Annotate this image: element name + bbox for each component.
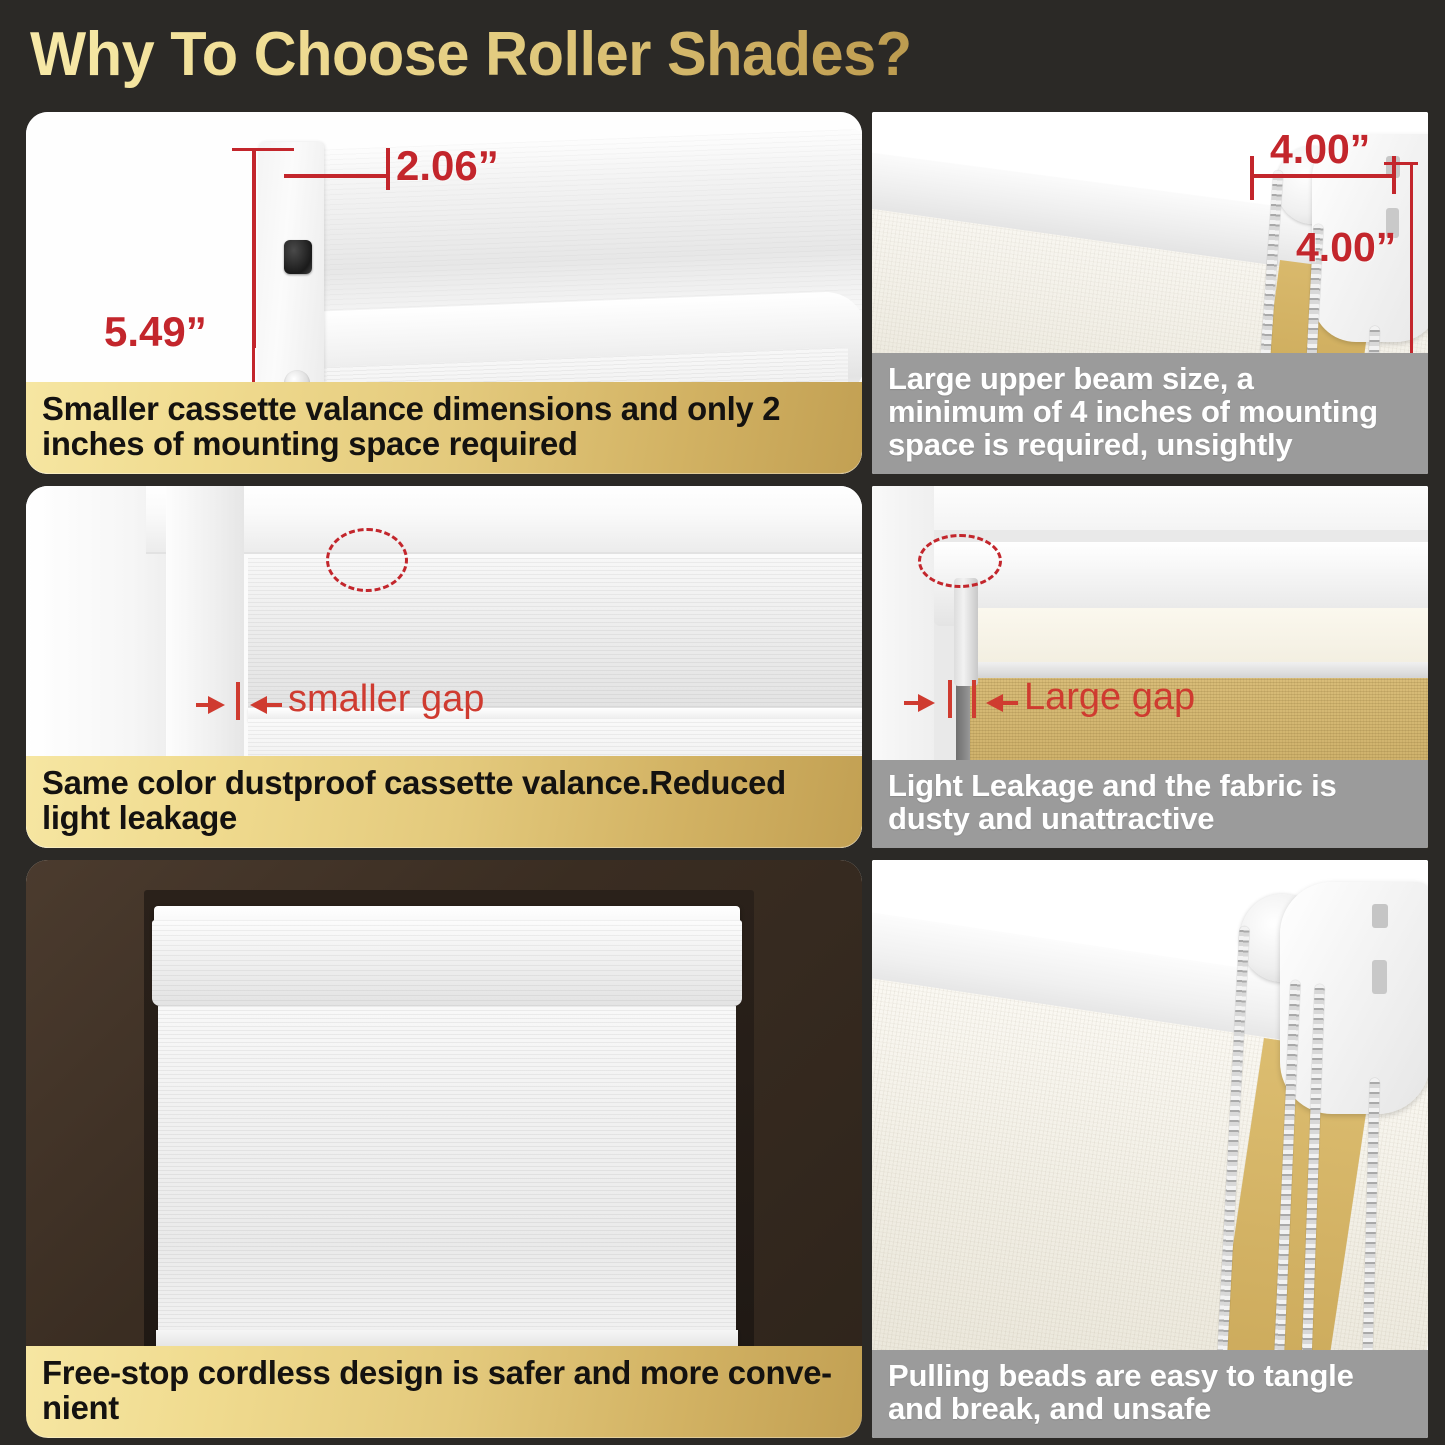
dimension-label-width: 2.06” [396, 142, 499, 190]
caption-line: and break, and unsafe [888, 1393, 1414, 1426]
caption-panel-3: Same color dustproof cassette valance.Re… [26, 756, 862, 848]
caption-line: light leakage [42, 801, 844, 836]
page-title: Why To Choose Roller Shades? [30, 19, 912, 90]
caption-panel-1: Smaller cassette valance dimensions and … [26, 382, 862, 474]
caption-line: Free-stop cordless design is safer and m… [42, 1356, 844, 1391]
caption-panel-4: Light Leakage and the fabric is dusty an… [872, 760, 1428, 848]
gap-arrow-right [250, 696, 267, 714]
caption-line: space is required, unsightly [888, 429, 1414, 462]
panel-large-upper-beam: 4.00” 4.00” Large upper beam size, a min… [872, 112, 1428, 474]
dimension-label-height: 5.49” [104, 308, 207, 356]
caption-line: Smaller cassette valance dimensions and … [42, 392, 844, 427]
caption-line: Light Leakage and the fabric is [888, 770, 1414, 803]
caption-line: dusty and unattractive [888, 803, 1414, 836]
gap-label-smaller: smaller gap [288, 678, 484, 721]
gap-arrow-left [918, 694, 935, 712]
gap-marker [972, 680, 976, 718]
dimension-label-width: 4.00” [1270, 126, 1370, 173]
header-bar: Why To Choose Roller Shades? [0, 0, 1445, 108]
panel-light-leakage: Large gap Light Leakage and the fabric i… [872, 486, 1428, 848]
caption-line: nient [42, 1391, 844, 1426]
caption-panel-2: Large upper beam size, a minimum of 4 in… [872, 353, 1428, 474]
caption-panel-6: Pulling beads are easy to tangle and bre… [872, 1350, 1428, 1438]
valance-slot [284, 240, 312, 274]
panel-smaller-cassette: 2.06” 5.49” Smaller cassette valance dim… [26, 112, 862, 474]
caption-line: Same color dustproof cassette valance.Re… [42, 766, 844, 801]
panel-dustproof-valance: smaller gap Same color dustproof cassett… [26, 486, 862, 848]
shade-fabric [158, 1006, 736, 1346]
caption-line: Large upper beam size, a [888, 363, 1414, 396]
comparison-grid: 2.06” 5.49” Smaller cassette valance dim… [0, 108, 1445, 1445]
roller-bracket [1280, 882, 1428, 1114]
gap-arrow-left [208, 696, 225, 714]
caption-line: minimum of 4 inches of mounting [888, 396, 1414, 429]
dimension-label-height: 4.00” [1296, 224, 1396, 271]
caption-line: inches of mounting space required [42, 427, 844, 462]
gap-marker [236, 682, 240, 720]
panel-pulling-beads: Pulling beads are easy to tangle and bre… [872, 860, 1428, 1438]
cassette-valance [152, 920, 742, 1006]
highlight-circle-large-gap [918, 534, 1002, 588]
caption-panel-5: Free-stop cordless design is safer and m… [26, 1346, 862, 1438]
gap-marker [948, 680, 952, 718]
gap-label-large: Large gap [1024, 676, 1195, 719]
gap-arrow-right [986, 694, 1003, 712]
highlight-circle-small-gap [326, 528, 408, 592]
roller-mechanism [954, 578, 978, 686]
panel-cordless-design: Free-stop cordless design is safer and m… [26, 860, 862, 1438]
caption-line: Pulling beads are easy to tangle [888, 1360, 1414, 1393]
